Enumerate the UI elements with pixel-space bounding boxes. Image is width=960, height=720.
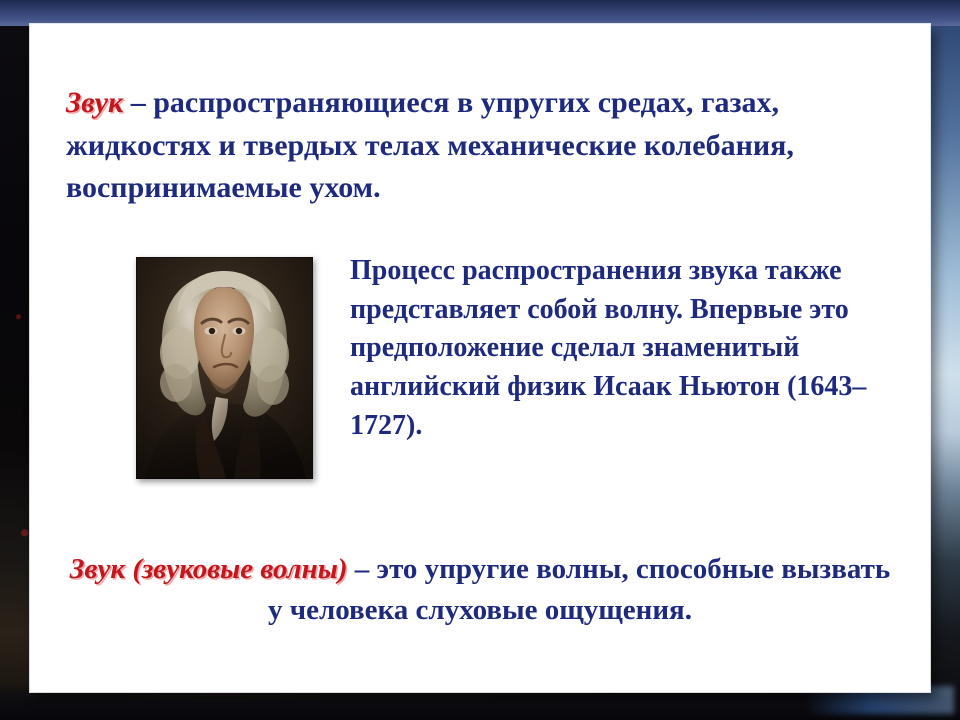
term-sound-waves: Звук (звуковые волны) [70,553,348,585]
term-sound: Звук [66,86,123,119]
slide-content: Звук – распространяющиеся в упругих сред… [30,24,930,692]
newton-paragraph: Процесс распространения звука также пред… [350,252,910,445]
definition-paragraph-bottom: Звук (звуковые волны) – это упругие волн… [66,549,894,630]
presentation-slide: Звук – распространяющиеся в упругих сред… [0,0,960,720]
slide-content-panel: Звук – распространяющиеся в упругих сред… [30,24,930,692]
slide-background-top-band [0,0,960,26]
newton-portrait-illustration [136,257,313,479]
definition-top-body: – распространяющиеся в упругих средах, г… [66,86,794,204]
definition-bottom-body: – это упругие волны, способные вызвать у… [268,553,890,626]
definition-paragraph-top: Звук – распространяющиеся в упругих сред… [66,82,898,210]
newton-portrait [136,257,313,479]
